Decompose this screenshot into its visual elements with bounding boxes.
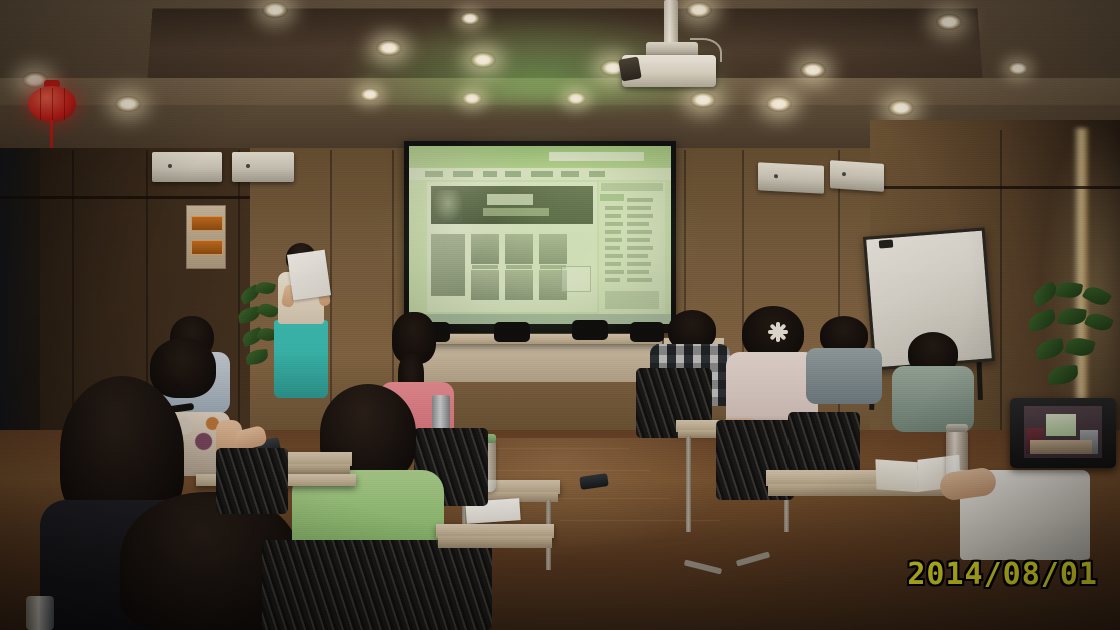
back-desk-panel [404,340,656,382]
ac-indicator-icon [774,174,778,178]
desk-leg [686,436,691,532]
lantern-rib [64,88,65,120]
downlight-icon [686,2,712,18]
downlight-icon [376,40,402,56]
air-conditioner-unit [232,152,294,182]
presenter-skirt [274,320,328,398]
plaque-bar [191,240,223,255]
attendee-grey-top [806,348,882,404]
downlight-icon [262,2,288,18]
wall-trim-right [880,186,1120,189]
chair-mesh-back [262,540,492,630]
bottle-cap [946,424,968,432]
air-conditioner-unit [830,160,884,192]
plant-leaf [1055,280,1083,300]
downlight-icon [462,92,482,105]
lantern-rib [40,88,41,120]
downlight-icon [766,96,792,112]
chair-back [494,322,530,342]
downlight-icon [460,12,480,25]
downlight-icon [566,92,586,105]
ac-indicator-icon [246,164,250,168]
flower-hair-clip-icon [768,322,788,342]
chair-back [572,320,608,340]
corner-plant-right [1028,282,1120,402]
plant-leaf [1026,308,1058,332]
plant-leaf [256,300,280,320]
downlight-icon [888,100,914,116]
desk-edge [438,536,552,548]
downlight-icon [360,88,380,101]
plant-leaf [1047,365,1078,385]
projection-screen [409,146,671,324]
attendee-sage-top [892,366,974,432]
plant-leaf [1057,307,1087,327]
air-conditioner-unit [758,162,824,193]
plant-leaf [1064,335,1096,359]
glass-cup [26,596,54,630]
screen-projection-vignette [409,146,671,324]
presenter-papers [287,250,331,301]
camera-date-stamp: 2014/08/01 [907,557,1098,592]
chair-back [630,322,664,342]
whiteboard-clip-icon [879,239,894,248]
air-conditioner-unit [152,152,222,182]
chair-mesh-back [216,448,288,514]
downlight-icon [1008,62,1028,75]
lantern-rib [52,88,53,120]
book-left-page [875,459,918,492]
downlight-icon [115,96,141,112]
downlight-icon [470,52,496,68]
plant-leaf [1035,338,1066,361]
downlight-icon [800,62,826,78]
downlight-icon [690,92,716,108]
wall-trim-left [0,196,250,199]
plant-leaf [1082,283,1113,310]
plaque-bar [191,216,223,231]
camcorder-lcd-desk [1030,440,1092,454]
projector-mount-pole [664,0,678,44]
plant-leaf [245,349,268,365]
plant-leaf [1084,309,1114,334]
wall-left-shadow [0,148,40,448]
wall-panel-seam [1000,130,1002,450]
seminar-room-photograph: 2014/08/01 [0,0,1120,630]
attendee-floral-hair [150,338,216,398]
downlight-icon [936,14,962,30]
ac-indicator-icon [168,164,172,168]
camcorder-lcd-projection [1046,414,1076,436]
ac-indicator-icon [842,172,846,176]
wall-plaque [186,205,226,269]
projector-lens-icon [618,56,642,81]
floor-plank-line [560,520,720,521]
